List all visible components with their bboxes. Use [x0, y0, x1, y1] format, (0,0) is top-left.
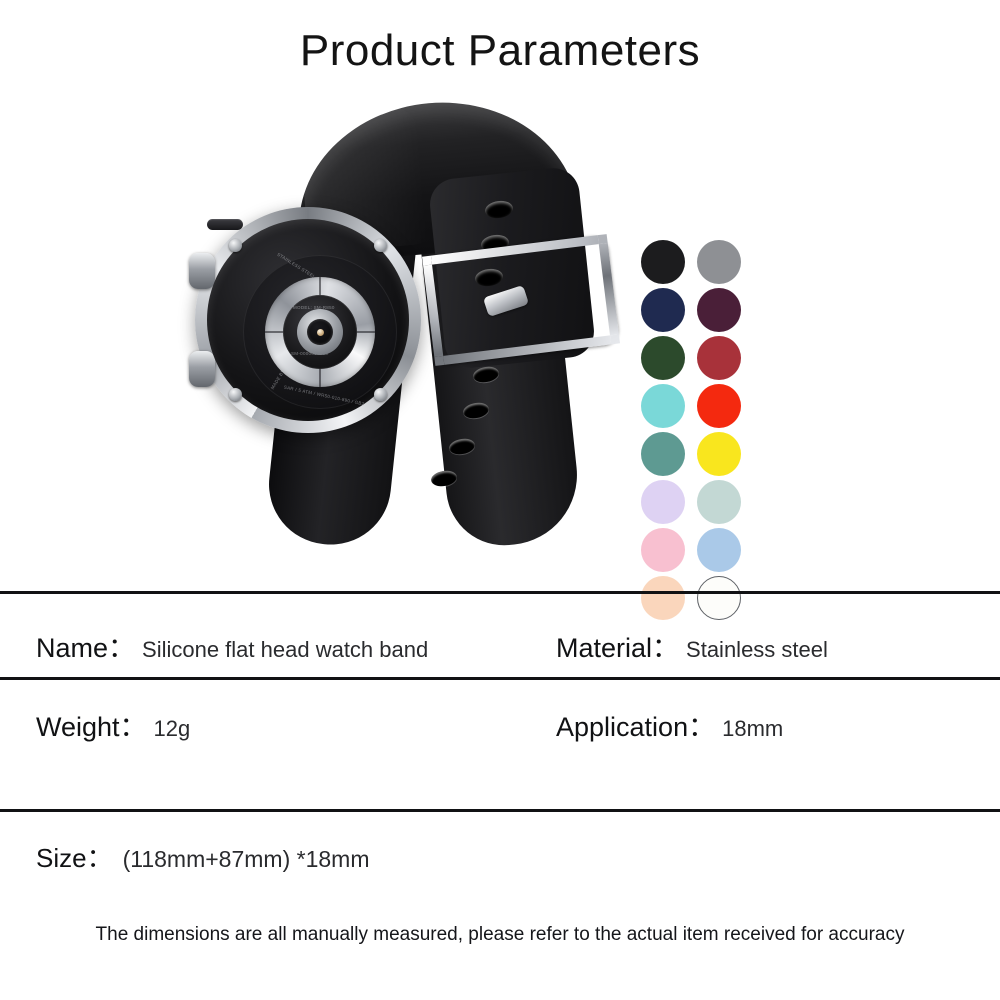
- spec-row-name-material: Name： Silicone flat head watch band Mate…: [0, 626, 1000, 665]
- color-swatch-brick-red[interactable]: [697, 336, 741, 380]
- spec-value-size: (118mm+87mm) *18mm: [123, 846, 370, 873]
- color-swatch-navy[interactable]: [641, 288, 685, 332]
- spec-row-weight-application: Weight： 12g Application： 18mm: [0, 705, 1000, 744]
- color-swatch-cell[interactable]: [636, 430, 689, 478]
- color-swatch-cell[interactable]: [692, 238, 745, 286]
- color-swatch-lavender[interactable]: [641, 480, 685, 524]
- watch-side-button-top: [189, 253, 215, 289]
- color-swatch-cell[interactable]: [636, 574, 689, 622]
- sensor-pill-window: [207, 219, 243, 230]
- measurement-disclaimer: The dimensions are all manually measured…: [0, 924, 1000, 946]
- case-screw: [229, 388, 242, 401]
- color-swatch-cell[interactable]: [692, 574, 745, 622]
- watch-case-back: STAINLESS STEEL CASE MADE BY VIETNAM SAR…: [207, 219, 409, 421]
- color-swatch-cell[interactable]: [692, 478, 745, 526]
- case-screw: [374, 388, 387, 401]
- case-screw: [374, 239, 387, 252]
- color-swatch-dark-plum[interactable]: [697, 288, 741, 332]
- spec-value-name: Silicone flat head watch band: [142, 637, 428, 663]
- page-title: Product Parameters: [0, 26, 1000, 76]
- color-swatch-white[interactable]: [697, 576, 741, 620]
- spec-label-weight: Weight：: [36, 705, 147, 744]
- color-swatch-peach[interactable]: [641, 576, 685, 620]
- color-swatch-cell[interactable]: [692, 430, 745, 478]
- color-swatch-grid: [636, 238, 745, 622]
- spec-label-name: Name：: [36, 626, 135, 665]
- spec-cell-weight: Weight： 12g: [36, 705, 556, 744]
- color-swatch-cell[interactable]: [636, 286, 689, 334]
- color-swatch-dark-green[interactable]: [641, 336, 685, 380]
- spec-cell-material: Material： Stainless steel: [556, 626, 828, 665]
- spec-cell-name: Name： Silicone flat head watch band: [36, 626, 556, 665]
- color-swatch-teal-gray[interactable]: [641, 432, 685, 476]
- spec-value-weight: 12g: [154, 716, 191, 742]
- spec-value-material: Stainless steel: [686, 637, 828, 663]
- color-swatch-pale-sage[interactable]: [697, 480, 741, 524]
- color-swatch-cell[interactable]: [636, 478, 689, 526]
- sensor-led-dot: [317, 329, 324, 336]
- watch-side-button-bottom: [189, 351, 215, 387]
- product-image-area: STAINLESS STEEL CASE MADE BY VIETNAM SAR…: [0, 95, 1000, 575]
- spec-cell-size: Size： (118mm+87mm) *18mm: [36, 838, 556, 875]
- spec-cell-application: Application： 18mm: [556, 705, 783, 744]
- color-swatch-black[interactable]: [641, 240, 685, 284]
- color-swatch-cell[interactable]: [692, 526, 745, 574]
- spec-divider-middle: [0, 677, 1000, 680]
- color-swatch-cell[interactable]: [636, 526, 689, 574]
- color-swatch-pink[interactable]: [641, 528, 685, 572]
- spec-label-material: Material：: [556, 626, 679, 665]
- color-swatch-aqua-mint[interactable]: [641, 384, 685, 428]
- color-swatch-cell[interactable]: [636, 334, 689, 382]
- spec-label-size: Size：: [36, 838, 113, 875]
- color-swatch-light-blue[interactable]: [697, 528, 741, 572]
- case-screw: [229, 239, 242, 252]
- color-swatch-gray[interactable]: [697, 240, 741, 284]
- spec-label-application: Application：: [556, 705, 715, 744]
- color-swatch-cell[interactable]: [636, 238, 689, 286]
- color-swatch-yellow[interactable]: [697, 432, 741, 476]
- spec-divider-top: [0, 591, 1000, 594]
- spec-row-size: Size： (118mm+87mm) *18mm: [0, 838, 1000, 875]
- watch-case-bezel: STAINLESS STEEL CASE MADE BY VIETNAM SAR…: [195, 207, 421, 433]
- smartwatch-with-band: STAINLESS STEEL CASE MADE BY VIETNAM SAR…: [185, 95, 645, 535]
- color-swatch-cell[interactable]: [636, 382, 689, 430]
- color-swatch-red-orange[interactable]: [697, 384, 741, 428]
- case-engraving-text: SAR / 5 ATM / WR50-010-890 / GB2: [283, 384, 365, 406]
- color-swatch-cell[interactable]: [692, 334, 745, 382]
- color-swatch-cell[interactable]: [692, 286, 745, 334]
- spec-value-application: 18mm: [722, 716, 783, 742]
- spec-divider-bottom: [0, 809, 1000, 812]
- color-swatch-cell[interactable]: [692, 382, 745, 430]
